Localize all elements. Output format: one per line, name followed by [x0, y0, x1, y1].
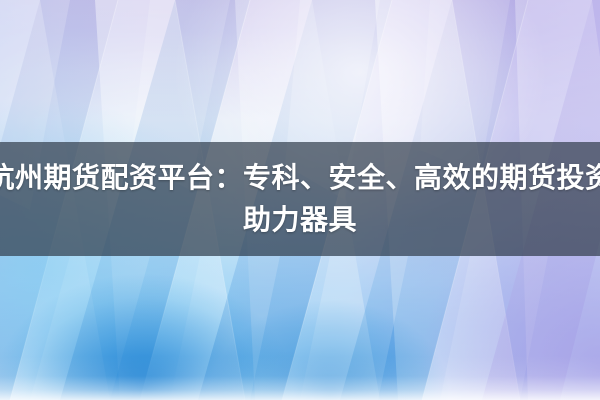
caption-line-2: 助力器具: [243, 200, 357, 240]
caption-line-1: 杭州期货配资平台：专科、安全、高效的期货投资: [0, 158, 600, 198]
promo-banner: 杭州期货配资平台：专科、安全、高效的期货投资 助力器具: [0, 0, 600, 400]
caption-text-block: 杭州期货配资平台：专科、安全、高效的期货投资 助力器具: [0, 142, 600, 256]
